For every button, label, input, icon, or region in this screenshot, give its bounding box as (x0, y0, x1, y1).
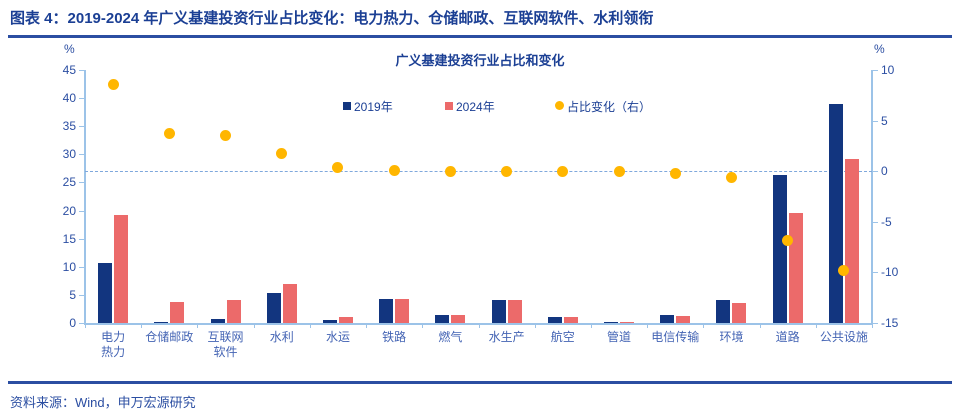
x-axis-tick (85, 323, 86, 328)
x-axis-tick (197, 323, 198, 328)
x-axis-label-line: 水利 (254, 330, 310, 345)
x-axis-category-label: 燃气 (422, 330, 478, 345)
bar-2019 (716, 300, 730, 323)
left-axis-tick (79, 182, 84, 183)
change-dot (670, 168, 681, 179)
change-dot (445, 166, 456, 177)
plot-area (85, 70, 872, 323)
left-axis-tick-label: 10 (42, 261, 76, 273)
x-axis-label-line: 仓储邮政 (141, 330, 197, 345)
x-axis-label-line: 水生产 (479, 330, 535, 345)
x-axis-tick (366, 323, 367, 328)
x-axis-tick (141, 323, 142, 328)
header-divider (8, 35, 952, 38)
right-axis-tick (873, 171, 878, 172)
x-axis-category-label: 电力热力 (85, 330, 141, 360)
x-axis-tick (703, 323, 704, 328)
left-axis-tick (79, 267, 84, 268)
x-axis-category-label: 水生产 (479, 330, 535, 345)
bar-2024 (508, 300, 522, 323)
change-dot (782, 235, 793, 246)
right-axis-tick-label: -10 (881, 266, 921, 278)
x-axis-label-line: 互联网 (197, 330, 253, 345)
x-axis-tick (760, 323, 761, 328)
source-note: 资料来源：Wind，申万宏源研究 (10, 392, 196, 411)
x-axis-category-label: 公共设施 (816, 330, 872, 345)
x-axis-label-line: 电信传输 (647, 330, 703, 345)
right-axis-tick-label: 0 (881, 165, 921, 177)
right-axis-tick (873, 272, 878, 273)
x-axis-tick (422, 323, 423, 328)
x-axis-tick (310, 323, 311, 328)
x-axis-tick (872, 323, 873, 328)
x-axis-category-label: 管道 (591, 330, 647, 345)
left-axis-tick (79, 126, 84, 127)
x-axis-tick (535, 323, 536, 328)
x-axis-label-line: 软件 (197, 345, 253, 360)
x-axis-label-line: 铁路 (366, 330, 422, 345)
x-axis-tick (816, 323, 817, 328)
left-axis-tick (79, 295, 84, 296)
left-axis-tick-label: 5 (42, 289, 76, 301)
change-dot (389, 165, 400, 176)
right-axis-tick-label: -15 (881, 317, 921, 329)
left-axis-tick (79, 154, 84, 155)
x-axis-tick (591, 323, 592, 328)
bar-2024 (451, 315, 465, 323)
x-axis-tick (254, 323, 255, 328)
bar-2019 (660, 315, 674, 323)
chart-container: 广义基建投资行业占比和变化 % % 2019年2024年占比变化（右） 4540… (0, 40, 960, 380)
bar-2019 (435, 315, 449, 323)
footer-divider (8, 381, 952, 384)
x-axis-label-line: 水运 (310, 330, 366, 345)
x-axis-category-label: 互联网软件 (197, 330, 253, 360)
bar-2024 (789, 213, 803, 323)
x-axis-label-line: 公共设施 (816, 330, 872, 345)
x-axis-label-line: 道路 (760, 330, 816, 345)
right-axis-tick (873, 70, 878, 71)
bar-2019 (548, 317, 562, 323)
left-axis-unit: % (64, 42, 75, 56)
bar-2024 (395, 299, 409, 323)
right-axis-tick-label: -5 (881, 216, 921, 228)
right-axis-unit: % (874, 42, 885, 56)
x-axis-category-label: 水利 (254, 330, 310, 345)
left-axis-tick-label: 45 (42, 64, 76, 76)
right-axis-tick (873, 323, 878, 324)
change-dot (332, 162, 343, 173)
left-axis-tick-label: 20 (42, 205, 76, 217)
x-axis-label-line: 电力 (85, 330, 141, 345)
x-axis-label-line: 燃气 (422, 330, 478, 345)
change-dot (726, 172, 737, 183)
x-axis-label-line: 热力 (85, 345, 141, 360)
right-axis-tick (873, 121, 878, 122)
bar-2019 (604, 322, 618, 323)
x-axis-category-label: 航空 (535, 330, 591, 345)
change-dot (220, 130, 231, 141)
left-axis-tick-label: 0 (42, 317, 76, 329)
bar-2019 (211, 319, 225, 323)
change-dot (108, 79, 119, 90)
x-axis-category-label: 电信传输 (647, 330, 703, 345)
chart-subtitle: 广义基建投资行业占比和变化 (0, 50, 960, 69)
bar-2019 (379, 299, 393, 323)
bar-2024 (732, 303, 746, 323)
bar-2024 (170, 302, 184, 323)
change-dot (164, 128, 175, 139)
left-axis-tick (79, 70, 84, 71)
figure-title: 图表 4：2019-2024 年广义基建投资行业占比变化：电力热力、仓储邮政、互… (10, 7, 653, 28)
left-axis-tick-label: 30 (42, 148, 76, 160)
right-axis-tick-label: 10 (881, 64, 921, 76)
change-dot (557, 166, 568, 177)
x-axis-category-label: 环境 (703, 330, 759, 345)
left-axis-tick-label: 35 (42, 120, 76, 132)
left-axis-tick-label: 40 (42, 92, 76, 104)
bar-2024 (676, 316, 690, 323)
left-axis-tick (79, 323, 84, 324)
bar-2024 (339, 317, 353, 323)
change-dot (276, 148, 287, 159)
left-axis-tick-label: 25 (42, 176, 76, 188)
bar-2019 (492, 300, 506, 323)
bar-2019 (267, 293, 281, 323)
bar-2024 (283, 284, 297, 323)
x-axis-tick (479, 323, 480, 328)
bar-2019 (154, 322, 168, 323)
right-axis-tick (873, 222, 878, 223)
bar-2024 (114, 215, 128, 324)
figure-header: 图表 4：2019-2024 年广义基建投资行业占比变化：电力热力、仓储邮政、互… (0, 0, 960, 40)
bar-2024 (620, 322, 634, 323)
left-axis-tick (79, 98, 84, 99)
x-axis-category-label: 仓储邮政 (141, 330, 197, 345)
bar-2019 (323, 320, 337, 323)
bar-2024 (227, 300, 241, 323)
x-axis-label-line: 航空 (535, 330, 591, 345)
x-axis-category-label: 道路 (760, 330, 816, 345)
change-dot (501, 166, 512, 177)
left-axis-tick-label: 15 (42, 233, 76, 245)
bar-2019 (829, 104, 843, 323)
bar-2019 (98, 263, 112, 323)
left-axis-tick (79, 239, 84, 240)
x-axis-category-label: 铁路 (366, 330, 422, 345)
bar-2024 (845, 159, 859, 323)
left-axis-tick (79, 211, 84, 212)
bar-2024 (564, 317, 578, 323)
x-axis-label-line: 管道 (591, 330, 647, 345)
x-axis-label-line: 环境 (703, 330, 759, 345)
change-dot (614, 166, 625, 177)
right-axis-tick-label: 5 (881, 115, 921, 127)
x-axis-category-label: 水运 (310, 330, 366, 345)
bar-2019 (773, 175, 787, 323)
x-axis-tick (647, 323, 648, 328)
